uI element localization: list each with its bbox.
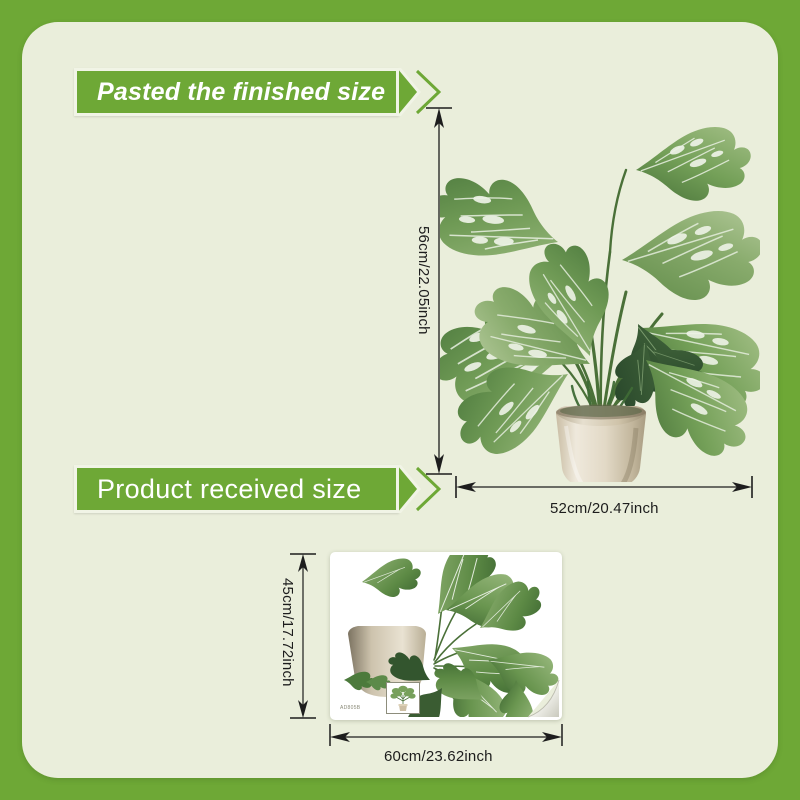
infographic-root: Pasted the finished size Product receive… <box>0 0 800 800</box>
dimension-label: 45cm/17.72inch <box>279 578 296 687</box>
content-panel: Pasted the finished size Product receive… <box>22 22 778 778</box>
dimension-label: 52cm/20.47inch <box>550 500 659 517</box>
dimension-received-width: 60cm/23.62inch <box>328 722 564 753</box>
banner-product-received-size: Product received size <box>74 465 441 513</box>
banner-label: Product received size <box>97 476 361 503</box>
leaf <box>618 206 760 307</box>
dimension-received-height: 45cm/17.72inch <box>278 552 318 725</box>
dimension-finished-width: 52cm/20.47inch <box>454 474 754 505</box>
dimension-finished-height: 56cm/22.05inch <box>418 106 458 481</box>
sheet-product-code: AD805B <box>340 705 360 711</box>
banner-pasted-finished-size: Pasted the finished size <box>74 68 441 116</box>
banner-body: Pasted the finished size <box>74 68 399 116</box>
sticker-sheet-illustration: AD805B <box>330 552 562 720</box>
leaf <box>632 122 756 208</box>
dimension-label: 56cm/22.05inch <box>415 226 432 335</box>
banner-label: Pasted the finished size <box>97 80 385 105</box>
leaf <box>359 555 424 601</box>
plant-pot <box>556 405 646 483</box>
monstera-plant-illustration-large <box>440 92 760 482</box>
banner-body: Product received size <box>74 465 399 513</box>
product-thumbnail-box <box>386 682 420 714</box>
dimension-label: 60cm/23.62inch <box>384 748 493 765</box>
